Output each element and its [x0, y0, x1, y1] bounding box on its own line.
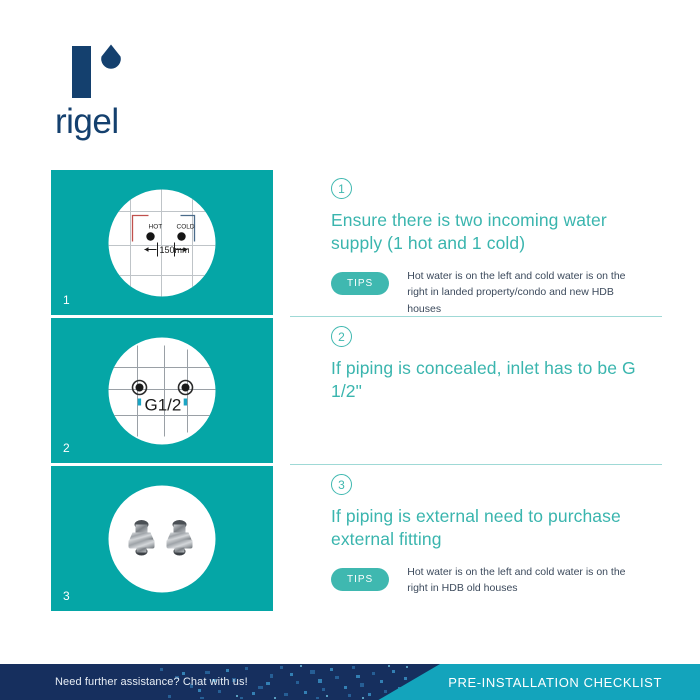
svg-text:150mm: 150mm: [160, 245, 190, 255]
footer-title: PRE-INSTALLATION CHECKLIST: [448, 664, 662, 700]
section-divider: [290, 316, 662, 317]
step-row: 3 3 If piping is external need to purcha…: [0, 466, 700, 611]
hot-cold-pipe-spacing-diagram: HOT COLD 150mm: [109, 189, 216, 296]
page-footer: Need further assistance? Chat with us! P…: [0, 664, 700, 700]
tips-badge: TIPS: [331, 568, 389, 591]
svg-text:COLD: COLD: [177, 223, 195, 230]
svg-text:G1/2: G1/2: [145, 395, 182, 414]
step-illustration-panel: HOT COLD 150mm 1: [51, 170, 273, 315]
logo-mark: [72, 42, 152, 98]
panel-number: 2: [63, 441, 70, 455]
tips-badge: TIPS: [331, 272, 389, 295]
step-number-badge: 1: [331, 178, 352, 199]
step-content: 1 Ensure there is two incoming water sup…: [273, 170, 700, 315]
panel-number: 1: [63, 293, 70, 307]
concealed-inlet-g-half-diagram: G1/2: [109, 337, 216, 444]
section-divider: [290, 464, 662, 465]
step-illustration-panel: G1/2 2: [51, 318, 273, 463]
tips-row: TIPS Hot water is on the left and cold w…: [331, 268, 662, 317]
step-title: If piping is external need to purchase e…: [331, 505, 661, 551]
step-row: G1/2 2 2 If piping is concealed, inlet h…: [0, 318, 700, 463]
footer-assistance-text[interactable]: Need further assistance? Chat with us!: [55, 664, 248, 700]
step-illustration-panel: 3: [51, 466, 273, 611]
panel-number: 3: [63, 589, 70, 603]
step-title: If piping is concealed, inlet has to be …: [331, 357, 661, 403]
checklist-steps: HOT COLD 150mm 1 1: [0, 170, 700, 614]
tips-row: TIPS Hot water is on the left and cold w…: [331, 564, 662, 597]
step-content: 2 If piping is concealed, inlet has to b…: [273, 318, 700, 463]
logo-bar-shape: [72, 46, 91, 98]
step-row: HOT COLD 150mm 1 1: [0, 170, 700, 315]
step-content: 3 If piping is external need to purchase…: [273, 466, 700, 611]
water-droplet-icon: [100, 44, 122, 71]
tips-text: Hot water is on the left and cold water …: [407, 564, 642, 597]
svg-text:HOT: HOT: [149, 223, 163, 230]
brand-logo: rigel: [55, 42, 255, 152]
step-number-badge: 3: [331, 474, 352, 495]
step-title: Ensure there is two incoming water suppl…: [331, 209, 661, 255]
external-fitting-valves-photo: [109, 485, 216, 592]
brand-name: rigel: [55, 104, 255, 139]
tips-text: Hot water is on the left and cold water …: [407, 268, 642, 317]
step-number-badge: 2: [331, 326, 352, 347]
